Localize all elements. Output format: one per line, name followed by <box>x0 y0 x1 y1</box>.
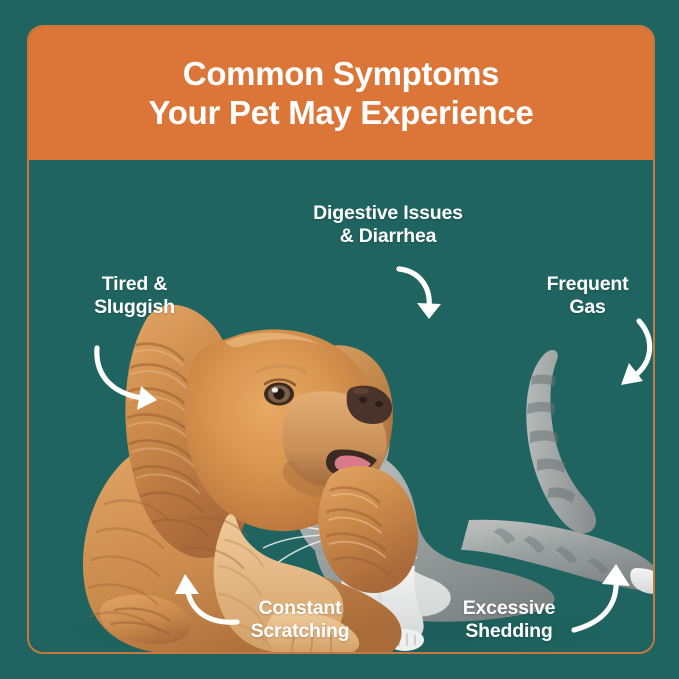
card-header: Common Symptoms Your Pet May Experience <box>29 27 653 160</box>
infographic-canvas: Common Symptoms Your Pet May Experience <box>0 0 679 679</box>
page-title: Common Symptoms Your Pet May Experience <box>149 55 534 132</box>
card-body: Digestive Issues & Diarrhea Tired & Slug… <box>29 160 653 652</box>
callout-constant-scratching: Constant Scratching <box>188 597 412 644</box>
callout-excessive-shedding: Excessive Shedding <box>401 597 617 644</box>
callout-digestive-issues: Digestive Issues & Diarrhea <box>272 202 504 249</box>
symptoms-card: Common Symptoms Your Pet May Experience <box>27 25 655 654</box>
callout-frequent-gas: Frequent Gas <box>495 273 653 320</box>
title-line-1: Common Symptoms <box>183 55 499 92</box>
title-line-2: Your Pet May Experience <box>149 94 534 133</box>
callout-tired-sluggish: Tired & Sluggish <box>47 273 222 320</box>
